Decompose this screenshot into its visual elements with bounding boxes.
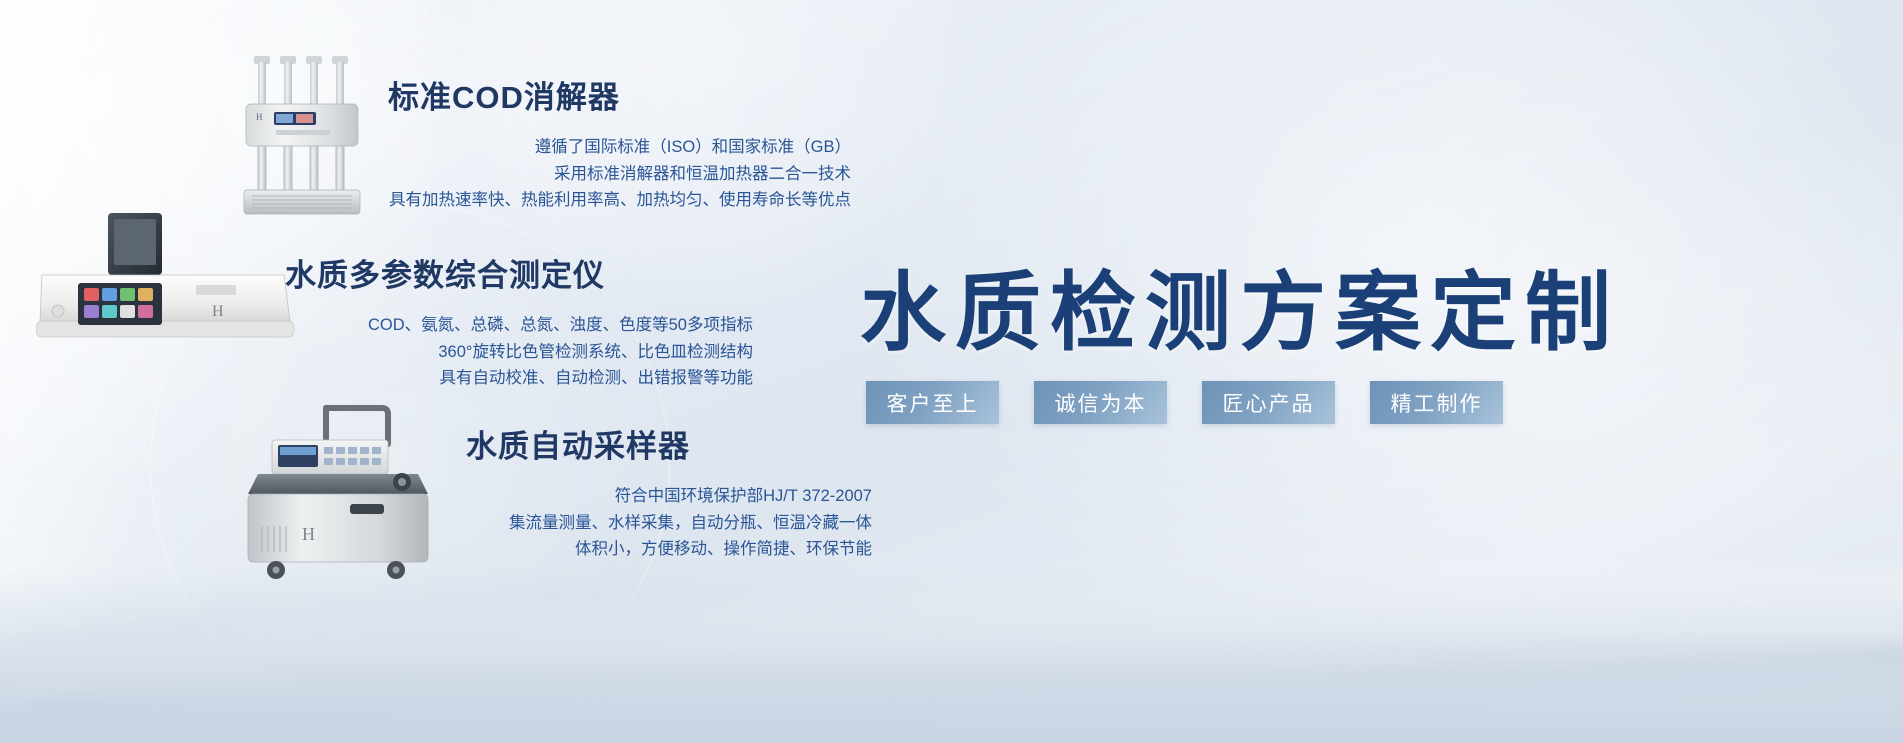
background-wave-shadow: [0, 614, 1903, 743]
background-wave-3: [0, 676, 1903, 743]
product-description-line: 体积小，方便移动、操作简捷、环保节能: [466, 536, 872, 563]
product-description-line: 具有加热速率快、热能利用率高、加热均匀、使用寿命长等优点: [388, 187, 851, 214]
product-description-line: 集流量测量、水样采集，自动分瓶、恒温冷藏一体: [466, 510, 872, 537]
cod-digester-photo: H: [236, 50, 376, 225]
tag-button-craftsmanship-product[interactable]: 匠心产品: [1202, 381, 1335, 424]
tag-button-fine-manufacturing[interactable]: 精工制作: [1370, 381, 1503, 424]
product-block-cod-digester: 标准COD消解器 遵循了国际标准（ISO）和国家标准（GB） 采用标准消解器和恒…: [388, 72, 851, 214]
product-block-auto-water-sampler: 水质自动采样器 符合中国环境保护部HJ/T 372-2007 集流量测量、水样采…: [466, 421, 872, 563]
product-description-line: 采用标准消解器和恒温加热器二合一技术: [388, 161, 851, 188]
auto-water-sampler-photo: H: [232, 400, 472, 595]
product-title: 水质多参数综合测定仪: [285, 250, 753, 295]
svg-text:H: H: [302, 524, 315, 544]
product-description-line: COD、氨氮、总磷、总氮、浊度、色度等50多项指标: [285, 312, 753, 339]
product-title: 标准COD消解器: [388, 72, 851, 117]
svg-text:H: H: [256, 112, 263, 122]
svg-text:H: H: [212, 303, 224, 320]
tag-button-integrity-based[interactable]: 诚信为本: [1034, 381, 1167, 424]
product-title: 水质自动采样器: [466, 421, 872, 466]
product-description: COD、氨氮、总磷、总氮、浊度、色度等50多项指标 360°旋转比色管检测系统、…: [285, 312, 753, 392]
product-description: 遵循了国际标准（ISO）和国家标准（GB） 采用标准消解器和恒温加热器二合一技术…: [388, 134, 851, 214]
background-wave-2: [0, 584, 1903, 743]
hero-title: 水质检测方案定制: [860, 242, 1620, 367]
product-description-line: 符合中国环境保护部HJ/T 372-2007: [466, 483, 872, 510]
tag-button-customer-first[interactable]: 客户至上: [866, 381, 999, 424]
product-block-multiparameter-analyzer: 水质多参数综合测定仪 COD、氨氮、总磷、总氮、浊度、色度等50多项指标 360…: [285, 250, 753, 392]
product-description-line: 具有自动校准、自动检测、出错报警等功能: [285, 365, 753, 392]
water-quality-banner: H: [0, 0, 1903, 743]
multiparameter-analyzer-photo: H: [36, 213, 296, 358]
product-description: 符合中国环境保护部HJ/T 372-2007 集流量测量、水样采集，自动分瓶、恒…: [466, 483, 872, 563]
hero-tag-row: 客户至上 诚信为本 匠心产品 精工制作: [866, 381, 1503, 424]
product-description-line: 遵循了国际标准（ISO）和国家标准（GB）: [388, 134, 851, 161]
product-description-line: 360°旋转比色管检测系统、比色皿检测结构: [285, 339, 753, 366]
